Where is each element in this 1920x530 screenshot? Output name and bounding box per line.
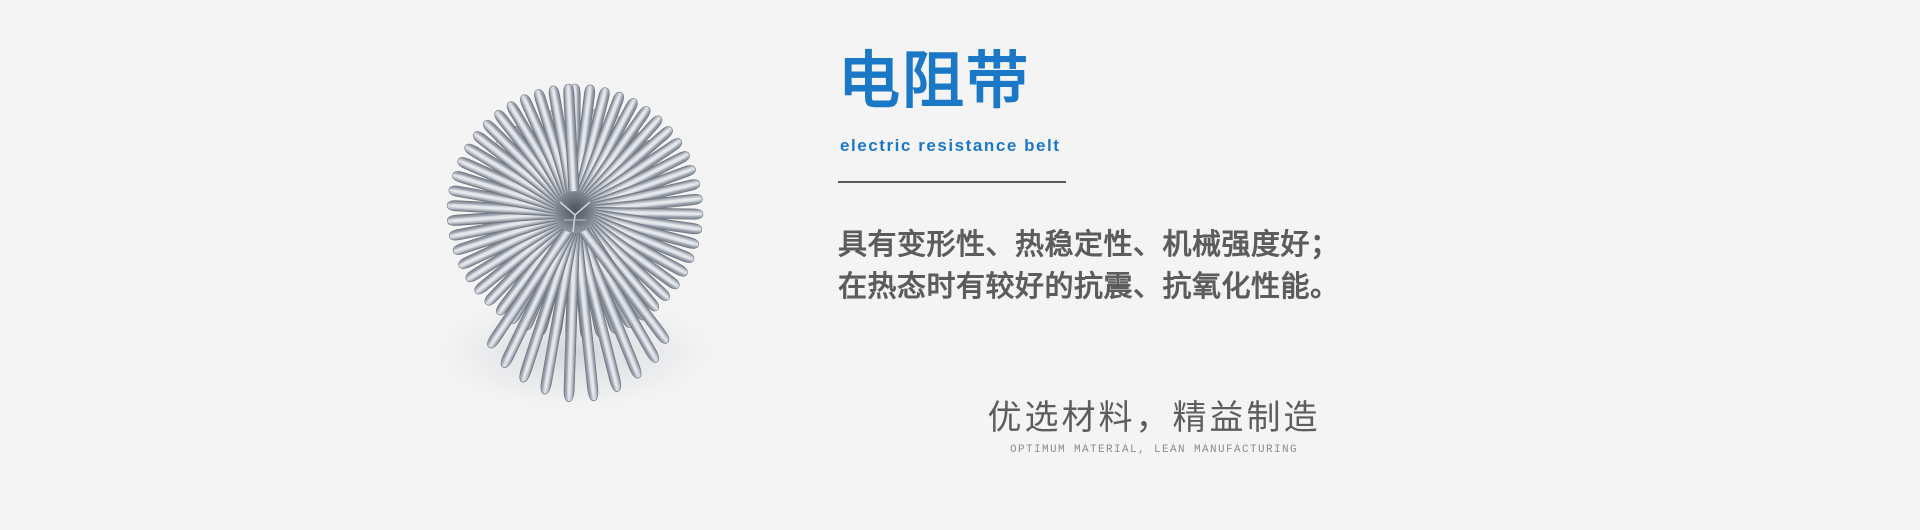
slogan-english: OPTIMUM MATERIAL, LEAN MANUFACTURING bbox=[944, 443, 1364, 457]
description-line-2: 在热态时有较好的抗震、抗氧化性能。 bbox=[838, 266, 1478, 308]
title-divider bbox=[838, 181, 1066, 183]
binding-core bbox=[554, 191, 596, 233]
slogan-chinese: 优选材料，精益制造 bbox=[944, 395, 1364, 441]
product-image bbox=[368, 52, 798, 422]
description-line-1: 具有变形性、热稳定性、机械强度好； bbox=[838, 224, 1478, 266]
page-subtitle: electric resistance belt bbox=[840, 136, 1061, 156]
resistance-belt-illustration bbox=[368, 52, 798, 422]
page-title: 电阻带 bbox=[838, 46, 1030, 118]
product-banner: 电阻带 electric resistance belt 具有变形性、热稳定性、… bbox=[0, 0, 1920, 530]
product-image-stage bbox=[368, 52, 798, 422]
company-slogan: 优选材料，精益制造 OPTIMUM MATERIAL, LEAN MANUFAC… bbox=[944, 395, 1364, 457]
banner-text-column: 电阻带 electric resistance belt 具有变形性、热稳定性、… bbox=[838, 0, 1738, 530]
product-description: 具有变形性、热稳定性、机械强度好； 在热态时有较好的抗震、抗氧化性能。 bbox=[838, 224, 1478, 308]
